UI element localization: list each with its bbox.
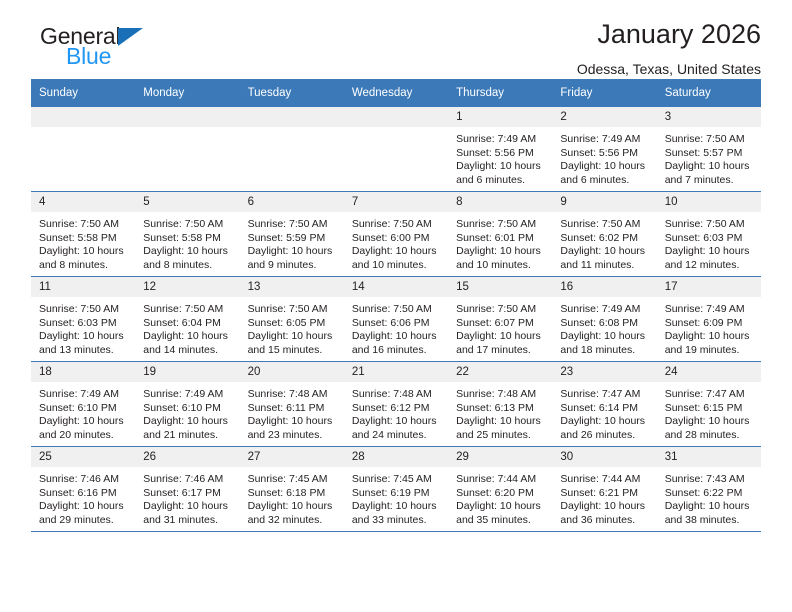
day-details: Sunrise: 7:48 AMSunset: 6:13 PMDaylight:… [448, 382, 552, 442]
day-details: Sunrise: 7:49 AMSunset: 5:56 PMDaylight:… [448, 127, 552, 187]
sunrise-text: Sunrise: 7:50 AM [39, 303, 129, 317]
calendar-body: 1Sunrise: 7:49 AMSunset: 5:56 PMDaylight… [31, 107, 761, 532]
weekday-header: Sunday Monday Tuesday Wednesday Thursday… [31, 79, 761, 107]
weekday-saturday: Saturday [657, 79, 761, 107]
day-number: 18 [31, 362, 135, 382]
day-number: 3 [657, 107, 761, 127]
calendar-day-cell[interactable]: 1Sunrise: 7:49 AMSunset: 5:56 PMDaylight… [448, 107, 552, 192]
daylight-text-line2: and 8 minutes. [143, 259, 233, 273]
daylight-text-line1: Daylight: 10 hours [39, 245, 129, 259]
day-number: 8 [448, 192, 552, 212]
sunset-text: Sunset: 6:12 PM [352, 402, 442, 416]
day-number: 12 [135, 277, 239, 297]
daylight-text-line1: Daylight: 10 hours [143, 245, 233, 259]
daylight-text-line2: and 16 minutes. [352, 344, 442, 358]
sunset-text: Sunset: 6:16 PM [39, 487, 129, 501]
daylight-text-line1: Daylight: 10 hours [456, 415, 546, 429]
daylight-text-line2: and 38 minutes. [665, 514, 755, 528]
sunrise-text: Sunrise: 7:50 AM [456, 303, 546, 317]
calendar-day-cell[interactable]: 27Sunrise: 7:45 AMSunset: 6:18 PMDayligh… [240, 447, 344, 532]
day-details: Sunrise: 7:49 AMSunset: 6:09 PMDaylight:… [657, 297, 761, 357]
day-number [240, 107, 344, 127]
sunrise-text: Sunrise: 7:50 AM [665, 218, 755, 232]
sunset-text: Sunset: 6:10 PM [143, 402, 233, 416]
day-details: Sunrise: 7:47 AMSunset: 6:15 PMDaylight:… [657, 382, 761, 442]
day-number: 19 [135, 362, 239, 382]
day-details: Sunrise: 7:50 AMSunset: 6:03 PMDaylight:… [657, 212, 761, 272]
daylight-text-line1: Daylight: 10 hours [248, 245, 338, 259]
sunrise-text: Sunrise: 7:49 AM [456, 133, 546, 147]
day-number: 29 [448, 447, 552, 467]
daylight-text-line2: and 33 minutes. [352, 514, 442, 528]
daylight-text-line2: and 12 minutes. [665, 259, 755, 273]
calendar-day-cell[interactable]: 5Sunrise: 7:50 AMSunset: 5:58 PMDaylight… [135, 192, 239, 277]
sunrise-text: Sunrise: 7:49 AM [560, 133, 650, 147]
sunrise-text: Sunrise: 7:50 AM [352, 218, 442, 232]
weekday-wednesday: Wednesday [344, 79, 448, 107]
sunset-text: Sunset: 6:14 PM [560, 402, 650, 416]
daylight-text-line2: and 8 minutes. [39, 259, 129, 273]
calendar-day-cell[interactable]: 17Sunrise: 7:49 AMSunset: 6:09 PMDayligh… [657, 277, 761, 362]
day-details: Sunrise: 7:50 AMSunset: 6:02 PMDaylight:… [552, 212, 656, 272]
daylight-text-line1: Daylight: 10 hours [665, 245, 755, 259]
sunrise-text: Sunrise: 7:50 AM [560, 218, 650, 232]
day-number: 26 [135, 447, 239, 467]
sunrise-text: Sunrise: 7:50 AM [39, 218, 129, 232]
calendar-day-cell[interactable]: 18Sunrise: 7:49 AMSunset: 6:10 PMDayligh… [31, 362, 135, 447]
daylight-text-line1: Daylight: 10 hours [560, 415, 650, 429]
day-number: 1 [448, 107, 552, 127]
daylight-text-line2: and 23 minutes. [248, 429, 338, 443]
day-number: 13 [240, 277, 344, 297]
sunrise-text: Sunrise: 7:46 AM [39, 473, 129, 487]
daylight-text-line1: Daylight: 10 hours [352, 415, 442, 429]
sunset-text: Sunset: 6:03 PM [665, 232, 755, 246]
sunset-text: Sunset: 6:13 PM [456, 402, 546, 416]
calendar-week-row: 25Sunrise: 7:46 AMSunset: 6:16 PMDayligh… [31, 447, 761, 532]
daylight-text-line1: Daylight: 10 hours [665, 415, 755, 429]
calendar-day-cell-empty [344, 107, 448, 192]
daylight-text-line2: and 36 minutes. [560, 514, 650, 528]
calendar-day-cell[interactable]: 30Sunrise: 7:44 AMSunset: 6:21 PMDayligh… [552, 447, 656, 532]
day-details: Sunrise: 7:47 AMSunset: 6:14 PMDaylight:… [552, 382, 656, 442]
day-number: 6 [240, 192, 344, 212]
sunrise-text: Sunrise: 7:50 AM [352, 303, 442, 317]
calendar-page: General Blue January 2026 Odessa, Texas,… [0, 0, 792, 612]
calendar-day-cell[interactable]: 26Sunrise: 7:46 AMSunset: 6:17 PMDayligh… [135, 447, 239, 532]
sunrise-text: Sunrise: 7:45 AM [248, 473, 338, 487]
sunrise-text: Sunrise: 7:48 AM [352, 388, 442, 402]
daylight-text-line2: and 20 minutes. [39, 429, 129, 443]
day-number [344, 107, 448, 127]
calendar-header-row: Sunday Monday Tuesday Wednesday Thursday… [31, 79, 761, 107]
sunrise-text: Sunrise: 7:50 AM [456, 218, 546, 232]
sunset-text: Sunset: 6:02 PM [560, 232, 650, 246]
sunset-text: Sunset: 6:11 PM [248, 402, 338, 416]
sunrise-text: Sunrise: 7:47 AM [665, 388, 755, 402]
daylight-text-line2: and 11 minutes. [560, 259, 650, 273]
daylight-text-line2: and 10 minutes. [352, 259, 442, 273]
day-number: 24 [657, 362, 761, 382]
day-number: 15 [448, 277, 552, 297]
day-details: Sunrise: 7:49 AMSunset: 6:10 PMDaylight:… [31, 382, 135, 442]
sunset-text: Sunset: 6:10 PM [39, 402, 129, 416]
sunset-text: Sunset: 5:58 PM [143, 232, 233, 246]
day-number [135, 107, 239, 127]
sunset-text: Sunset: 6:01 PM [456, 232, 546, 246]
sunrise-text: Sunrise: 7:44 AM [560, 473, 650, 487]
daylight-text-line2: and 29 minutes. [39, 514, 129, 528]
sunset-text: Sunset: 6:17 PM [143, 487, 233, 501]
day-details: Sunrise: 7:45 AMSunset: 6:19 PMDaylight:… [344, 467, 448, 527]
daylight-text-line2: and 18 minutes. [560, 344, 650, 358]
daylight-text-line2: and 31 minutes. [143, 514, 233, 528]
sunset-text: Sunset: 6:03 PM [39, 317, 129, 331]
daylight-text-line1: Daylight: 10 hours [665, 500, 755, 514]
page-header: General Blue January 2026 Odessa, Texas,… [31, 0, 761, 79]
sunset-text: Sunset: 6:05 PM [248, 317, 338, 331]
day-number: 2 [552, 107, 656, 127]
sunset-text: Sunset: 6:09 PM [665, 317, 755, 331]
day-details: Sunrise: 7:50 AMSunset: 5:58 PMDaylight:… [135, 212, 239, 272]
calendar-day-cell[interactable]: 11Sunrise: 7:50 AMSunset: 6:03 PMDayligh… [31, 277, 135, 362]
calendar-day-cell[interactable]: 29Sunrise: 7:44 AMSunset: 6:20 PMDayligh… [448, 447, 552, 532]
calendar-day-cell[interactable]: 16Sunrise: 7:49 AMSunset: 6:08 PMDayligh… [552, 277, 656, 362]
calendar-day-cell-empty [135, 107, 239, 192]
sunrise-text: Sunrise: 7:49 AM [39, 388, 129, 402]
calendar-day-cell-empty [31, 107, 135, 192]
calendar-day-cell[interactable]: 3Sunrise: 7:50 AMSunset: 5:57 PMDaylight… [657, 107, 761, 192]
day-details: Sunrise: 7:48 AMSunset: 6:12 PMDaylight:… [344, 382, 448, 442]
sunset-text: Sunset: 6:20 PM [456, 487, 546, 501]
sunrise-text: Sunrise: 7:50 AM [143, 303, 233, 317]
day-details: Sunrise: 7:46 AMSunset: 6:17 PMDaylight:… [135, 467, 239, 527]
page-subtitle: Odessa, Texas, United States [577, 61, 761, 77]
daylight-text-line2: and 7 minutes. [665, 174, 755, 188]
day-number: 16 [552, 277, 656, 297]
calendar-day-cell[interactable]: 23Sunrise: 7:47 AMSunset: 6:14 PMDayligh… [552, 362, 656, 447]
daylight-text-line2: and 25 minutes. [456, 429, 546, 443]
day-details: Sunrise: 7:49 AMSunset: 5:56 PMDaylight:… [552, 127, 656, 187]
calendar-day-cell[interactable]: 2Sunrise: 7:49 AMSunset: 5:56 PMDaylight… [552, 107, 656, 192]
sunrise-text: Sunrise: 7:44 AM [456, 473, 546, 487]
generalblue-logo[interactable]: General Blue [40, 25, 143, 68]
day-number: 5 [135, 192, 239, 212]
day-details: Sunrise: 7:50 AMSunset: 6:00 PMDaylight:… [344, 212, 448, 272]
day-number: 21 [344, 362, 448, 382]
calendar-week-row: 1Sunrise: 7:49 AMSunset: 5:56 PMDaylight… [31, 107, 761, 192]
sunset-text: Sunset: 6:06 PM [352, 317, 442, 331]
weekday-tuesday: Tuesday [240, 79, 344, 107]
sunrise-text: Sunrise: 7:45 AM [352, 473, 442, 487]
blue-triangle-icon [118, 28, 143, 46]
daylight-text-line2: and 26 minutes. [560, 429, 650, 443]
day-details: Sunrise: 7:50 AMSunset: 5:59 PMDaylight:… [240, 212, 344, 272]
day-details: Sunrise: 7:44 AMSunset: 6:21 PMDaylight:… [552, 467, 656, 527]
sunset-text: Sunset: 5:59 PM [248, 232, 338, 246]
sunrise-text: Sunrise: 7:47 AM [560, 388, 650, 402]
daylight-text-line2: and 24 minutes. [352, 429, 442, 443]
calendar-day-cell[interactable]: 15Sunrise: 7:50 AMSunset: 6:07 PMDayligh… [448, 277, 552, 362]
calendar-day-cell[interactable]: 24Sunrise: 7:47 AMSunset: 6:15 PMDayligh… [657, 362, 761, 447]
day-number: 28 [344, 447, 448, 467]
daylight-text-line2: and 9 minutes. [248, 259, 338, 273]
daylight-text-line1: Daylight: 10 hours [39, 330, 129, 344]
calendar-day-cell[interactable]: 4Sunrise: 7:50 AMSunset: 5:58 PMDaylight… [31, 192, 135, 277]
daylight-text-line2: and 6 minutes. [456, 174, 546, 188]
daylight-text-line2: and 10 minutes. [456, 259, 546, 273]
daylight-text-line2: and 32 minutes. [248, 514, 338, 528]
sunrise-text: Sunrise: 7:46 AM [143, 473, 233, 487]
calendar-day-cell[interactable]: 25Sunrise: 7:46 AMSunset: 6:16 PMDayligh… [31, 447, 135, 532]
day-number: 31 [657, 447, 761, 467]
sunrise-text: Sunrise: 7:49 AM [143, 388, 233, 402]
weekday-thursday: Thursday [448, 79, 552, 107]
calendar-day-cell[interactable]: 6Sunrise: 7:50 AMSunset: 5:59 PMDaylight… [240, 192, 344, 277]
day-details: Sunrise: 7:49 AMSunset: 6:08 PMDaylight:… [552, 297, 656, 357]
day-details: Sunrise: 7:44 AMSunset: 6:20 PMDaylight:… [448, 467, 552, 527]
sunset-text: Sunset: 6:19 PM [352, 487, 442, 501]
sunset-text: Sunset: 5:58 PM [39, 232, 129, 246]
day-details: Sunrise: 7:50 AMSunset: 6:05 PMDaylight:… [240, 297, 344, 357]
day-details: Sunrise: 7:50 AMSunset: 5:57 PMDaylight:… [657, 127, 761, 187]
day-details: Sunrise: 7:46 AMSunset: 6:16 PMDaylight:… [31, 467, 135, 527]
calendar-day-cell[interactable]: 22Sunrise: 7:48 AMSunset: 6:13 PMDayligh… [448, 362, 552, 447]
sunset-text: Sunset: 6:07 PM [456, 317, 546, 331]
daylight-text-line1: Daylight: 10 hours [39, 415, 129, 429]
weekday-monday: Monday [135, 79, 239, 107]
day-number: 17 [657, 277, 761, 297]
sunrise-text: Sunrise: 7:50 AM [248, 218, 338, 232]
day-number: 11 [31, 277, 135, 297]
day-number: 27 [240, 447, 344, 467]
weekday-friday: Friday [552, 79, 656, 107]
day-details: Sunrise: 7:50 AMSunset: 6:07 PMDaylight:… [448, 297, 552, 357]
calendar-day-cell[interactable]: 7Sunrise: 7:50 AMSunset: 6:00 PMDaylight… [344, 192, 448, 277]
day-number: 22 [448, 362, 552, 382]
day-details: Sunrise: 7:48 AMSunset: 6:11 PMDaylight:… [240, 382, 344, 442]
daylight-text-line1: Daylight: 10 hours [143, 415, 233, 429]
calendar-day-cell-empty [240, 107, 344, 192]
daylight-text-line2: and 6 minutes. [560, 174, 650, 188]
daylight-text-line1: Daylight: 10 hours [665, 330, 755, 344]
calendar-day-cell[interactable]: 8Sunrise: 7:50 AMSunset: 6:01 PMDaylight… [448, 192, 552, 277]
calendar-day-cell[interactable]: 20Sunrise: 7:48 AMSunset: 6:11 PMDayligh… [240, 362, 344, 447]
calendar-day-cell[interactable]: 14Sunrise: 7:50 AMSunset: 6:06 PMDayligh… [344, 277, 448, 362]
day-details: Sunrise: 7:45 AMSunset: 6:18 PMDaylight:… [240, 467, 344, 527]
sunrise-text: Sunrise: 7:50 AM [248, 303, 338, 317]
daylight-text-line1: Daylight: 10 hours [456, 330, 546, 344]
day-number: 10 [657, 192, 761, 212]
day-number: 30 [552, 447, 656, 467]
daylight-text-line2: and 19 minutes. [665, 344, 755, 358]
sunset-text: Sunset: 6:08 PM [560, 317, 650, 331]
day-number: 20 [240, 362, 344, 382]
daylight-text-line1: Daylight: 10 hours [352, 500, 442, 514]
sunrise-text: Sunrise: 7:49 AM [560, 303, 650, 317]
day-details: Sunrise: 7:50 AMSunset: 5:58 PMDaylight:… [31, 212, 135, 272]
title-block: January 2026 Odessa, Texas, United State… [577, 20, 761, 77]
sunrise-text: Sunrise: 7:43 AM [665, 473, 755, 487]
sunset-text: Sunset: 5:56 PM [456, 147, 546, 161]
logo-text-blue: Blue [66, 45, 143, 68]
daylight-text-line1: Daylight: 10 hours [352, 245, 442, 259]
calendar-day-cell[interactable]: 31Sunrise: 7:43 AMSunset: 6:22 PMDayligh… [657, 447, 761, 532]
daylight-text-line1: Daylight: 10 hours [456, 500, 546, 514]
sunset-text: Sunset: 6:15 PM [665, 402, 755, 416]
sunset-text: Sunset: 6:18 PM [248, 487, 338, 501]
daylight-text-line1: Daylight: 10 hours [248, 415, 338, 429]
daylight-text-line1: Daylight: 10 hours [352, 330, 442, 344]
sunrise-text: Sunrise: 7:48 AM [248, 388, 338, 402]
sunset-text: Sunset: 6:00 PM [352, 232, 442, 246]
daylight-text-line1: Daylight: 10 hours [143, 330, 233, 344]
day-details: Sunrise: 7:49 AMSunset: 6:10 PMDaylight:… [135, 382, 239, 442]
daylight-text-line1: Daylight: 10 hours [560, 330, 650, 344]
daylight-text-line1: Daylight: 10 hours [143, 500, 233, 514]
daylight-text-line2: and 21 minutes. [143, 429, 233, 443]
calendar-day-cell[interactable]: 19Sunrise: 7:49 AMSunset: 6:10 PMDayligh… [135, 362, 239, 447]
calendar-week-row: 18Sunrise: 7:49 AMSunset: 6:10 PMDayligh… [31, 362, 761, 447]
page-title: January 2026 [577, 20, 761, 50]
daylight-text-line1: Daylight: 10 hours [248, 330, 338, 344]
daylight-text-line1: Daylight: 10 hours [560, 500, 650, 514]
sunset-text: Sunset: 6:21 PM [560, 487, 650, 501]
day-number: 25 [31, 447, 135, 467]
weekday-sunday: Sunday [31, 79, 135, 107]
sunrise-text: Sunrise: 7:48 AM [456, 388, 546, 402]
sunrise-sunset-calendar: Sunday Monday Tuesday Wednesday Thursday… [31, 79, 761, 532]
daylight-text-line2: and 13 minutes. [39, 344, 129, 358]
daylight-text-line1: Daylight: 10 hours [560, 245, 650, 259]
calendar-day-cell[interactable]: 10Sunrise: 7:50 AMSunset: 6:03 PMDayligh… [657, 192, 761, 277]
day-details: Sunrise: 7:43 AMSunset: 6:22 PMDaylight:… [657, 467, 761, 527]
sunrise-text: Sunrise: 7:49 AM [665, 303, 755, 317]
calendar-week-row: 11Sunrise: 7:50 AMSunset: 6:03 PMDayligh… [31, 277, 761, 362]
day-number: 23 [552, 362, 656, 382]
daylight-text-line1: Daylight: 10 hours [456, 160, 546, 174]
calendar-day-cell[interactable]: 12Sunrise: 7:50 AMSunset: 6:04 PMDayligh… [135, 277, 239, 362]
day-details: Sunrise: 7:50 AMSunset: 6:03 PMDaylight:… [31, 297, 135, 357]
daylight-text-line1: Daylight: 10 hours [665, 160, 755, 174]
daylight-text-line2: and 17 minutes. [456, 344, 546, 358]
day-number: 7 [344, 192, 448, 212]
day-number [31, 107, 135, 127]
day-details: Sunrise: 7:50 AMSunset: 6:01 PMDaylight:… [448, 212, 552, 272]
daylight-text-line1: Daylight: 10 hours [560, 160, 650, 174]
day-details: Sunrise: 7:50 AMSunset: 6:06 PMDaylight:… [344, 297, 448, 357]
calendar-day-cell[interactable]: 13Sunrise: 7:50 AMSunset: 6:05 PMDayligh… [240, 277, 344, 362]
daylight-text-line1: Daylight: 10 hours [456, 245, 546, 259]
sunset-text: Sunset: 6:22 PM [665, 487, 755, 501]
sunrise-text: Sunrise: 7:50 AM [143, 218, 233, 232]
sunset-text: Sunset: 6:04 PM [143, 317, 233, 331]
day-number: 4 [31, 192, 135, 212]
sunset-text: Sunset: 5:56 PM [560, 147, 650, 161]
daylight-text-line2: and 15 minutes. [248, 344, 338, 358]
sunset-text: Sunset: 5:57 PM [665, 147, 755, 161]
sunrise-text: Sunrise: 7:50 AM [665, 133, 755, 147]
daylight-text-line1: Daylight: 10 hours [39, 500, 129, 514]
daylight-text-line2: and 14 minutes. [143, 344, 233, 358]
daylight-text-line1: Daylight: 10 hours [248, 500, 338, 514]
calendar-week-row: 4Sunrise: 7:50 AMSunset: 5:58 PMDaylight… [31, 192, 761, 277]
day-details: Sunrise: 7:50 AMSunset: 6:04 PMDaylight:… [135, 297, 239, 357]
calendar-day-cell[interactable]: 21Sunrise: 7:48 AMSunset: 6:12 PMDayligh… [344, 362, 448, 447]
calendar-day-cell[interactable]: 9Sunrise: 7:50 AMSunset: 6:02 PMDaylight… [552, 192, 656, 277]
calendar-day-cell[interactable]: 28Sunrise: 7:45 AMSunset: 6:19 PMDayligh… [344, 447, 448, 532]
daylight-text-line2: and 35 minutes. [456, 514, 546, 528]
daylight-text-line2: and 28 minutes. [665, 429, 755, 443]
day-number: 14 [344, 277, 448, 297]
day-number: 9 [552, 192, 656, 212]
